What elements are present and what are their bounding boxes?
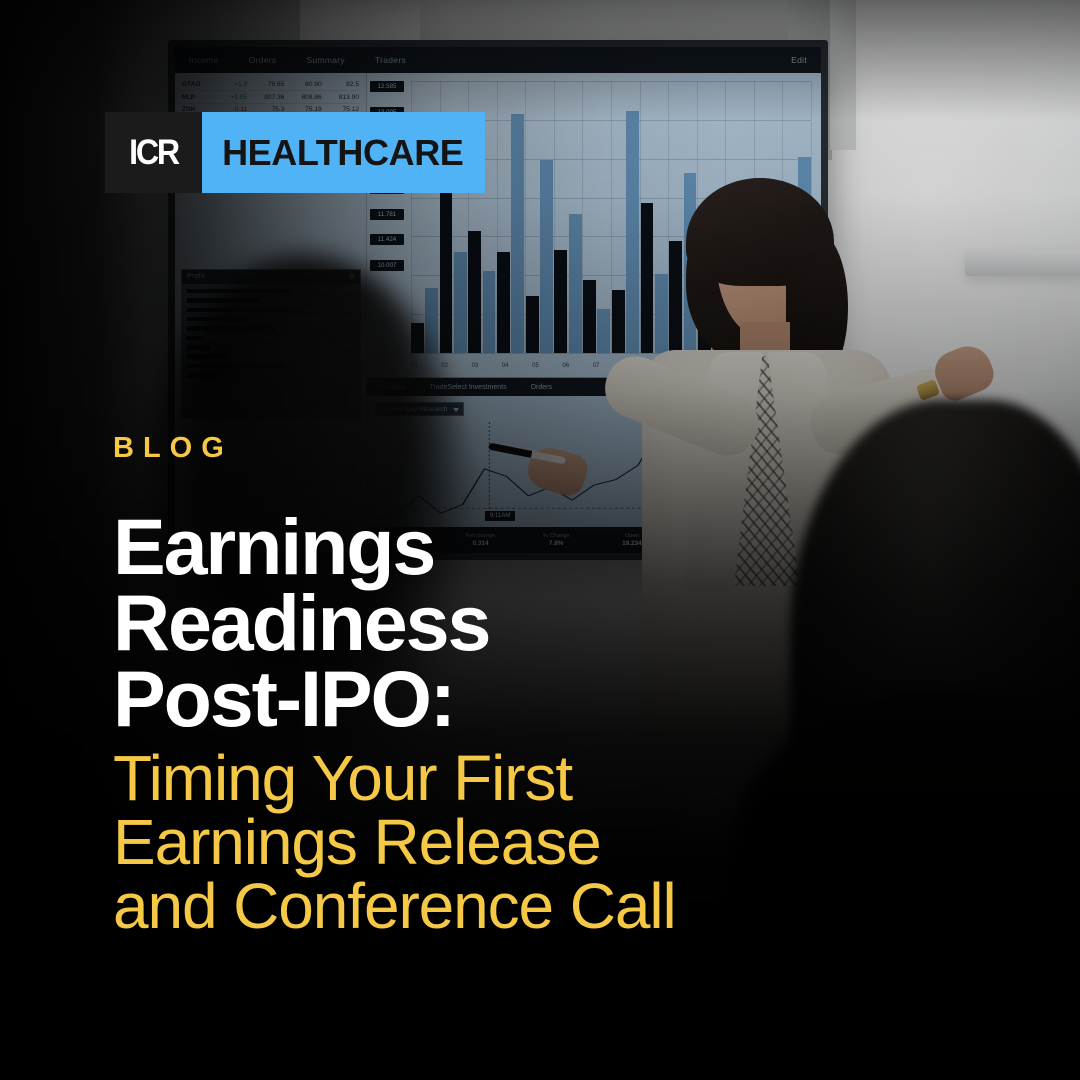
icr-logo-mark: ICR xyxy=(105,112,202,193)
page-title: Earnings Readiness Post-IPO: xyxy=(113,509,973,738)
category-eyebrow: BLOG xyxy=(113,432,973,465)
headline-line-2: Readiness xyxy=(113,585,973,661)
icr-logo-text: ICR xyxy=(129,133,178,173)
subhead-line-2: Earnings Release xyxy=(113,810,973,874)
page-subtitle: Timing Your First Earnings Release and C… xyxy=(113,746,973,938)
healthcare-logo-text: HEALTHCARE xyxy=(222,132,463,174)
blog-social-card: Income Orders Summary Traders Edit OTAO … xyxy=(0,0,1080,1080)
subhead-line-1: Timing Your First xyxy=(113,746,973,810)
healthcare-logo-block: HEALTHCARE xyxy=(202,112,485,193)
headline-line-1: Earnings xyxy=(113,509,973,585)
text-content-block: BLOG Earnings Readiness Post-IPO: Timing… xyxy=(113,432,973,938)
headline-line-3: Post-IPO: xyxy=(113,661,973,737)
brand-logo[interactable]: ICR HEALTHCARE xyxy=(105,112,485,193)
subhead-line-3: and Conference Call xyxy=(113,874,973,938)
